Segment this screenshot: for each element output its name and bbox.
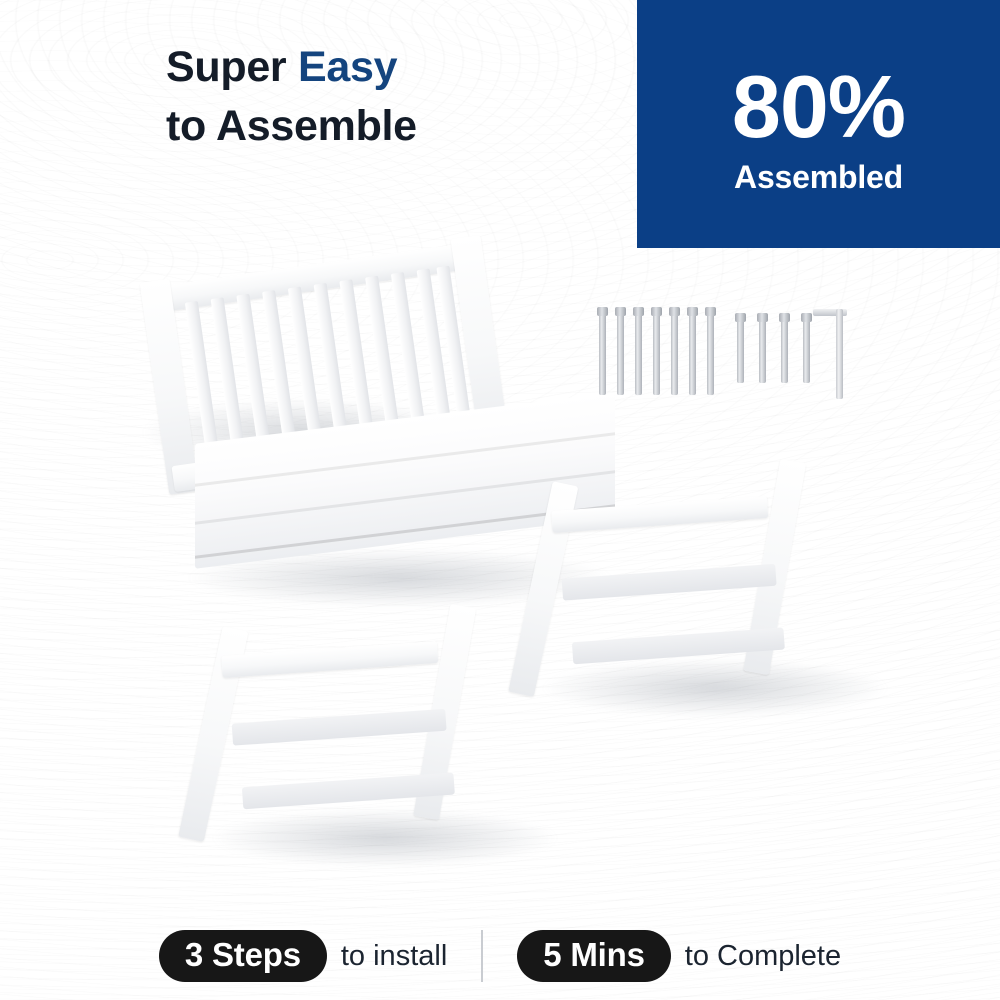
part-side-frame-right xyxy=(526,458,824,698)
time-pill: 5 Mins xyxy=(517,930,671,982)
screw-short xyxy=(759,319,766,383)
product-parts-photo xyxy=(0,248,1000,900)
time-caption: to Complete xyxy=(685,940,841,973)
allen-key-long-arm xyxy=(836,309,843,399)
footer-steps-bar: 3 Steps to install 5 Mins to Complete xyxy=(0,930,1000,982)
headline-line1-prefix: Super xyxy=(166,43,298,91)
bolt-long xyxy=(689,313,696,395)
side-frame-right-rung-top xyxy=(551,496,768,533)
bolt-long xyxy=(599,313,606,395)
page-title: Super Easy to Assemble xyxy=(166,38,417,157)
bolt-long xyxy=(635,313,642,395)
footer-time-group: 5 Mins to Complete xyxy=(517,930,841,982)
side-frame-right-rung-middle xyxy=(562,564,777,601)
bolt-long xyxy=(617,313,624,395)
hardware-group xyxy=(585,303,855,423)
bolt-long xyxy=(653,313,660,395)
screw-short xyxy=(737,319,744,383)
allen-key-icon xyxy=(813,309,847,401)
badge-label: Assembled xyxy=(734,161,903,193)
part-side-frame-left xyxy=(196,603,494,843)
bolt-long xyxy=(707,313,714,395)
headline-line2: to Assemble xyxy=(166,102,417,150)
side-frame-left-rung-middle xyxy=(232,709,447,746)
side-frame-left-rung-top xyxy=(221,641,438,678)
steps-pill: 3 Steps xyxy=(159,930,327,982)
bolt-long xyxy=(671,313,678,395)
footer-divider xyxy=(481,930,483,982)
headline-line1-accent: Easy xyxy=(298,43,397,91)
screw-short xyxy=(803,319,810,383)
footer-steps-group: 3 Steps to install xyxy=(159,930,447,982)
badge-percent-value: 80% xyxy=(732,65,905,149)
screw-short xyxy=(781,319,788,383)
steps-caption: to install xyxy=(341,940,447,973)
assembled-badge: 80% Assembled xyxy=(637,0,1000,248)
